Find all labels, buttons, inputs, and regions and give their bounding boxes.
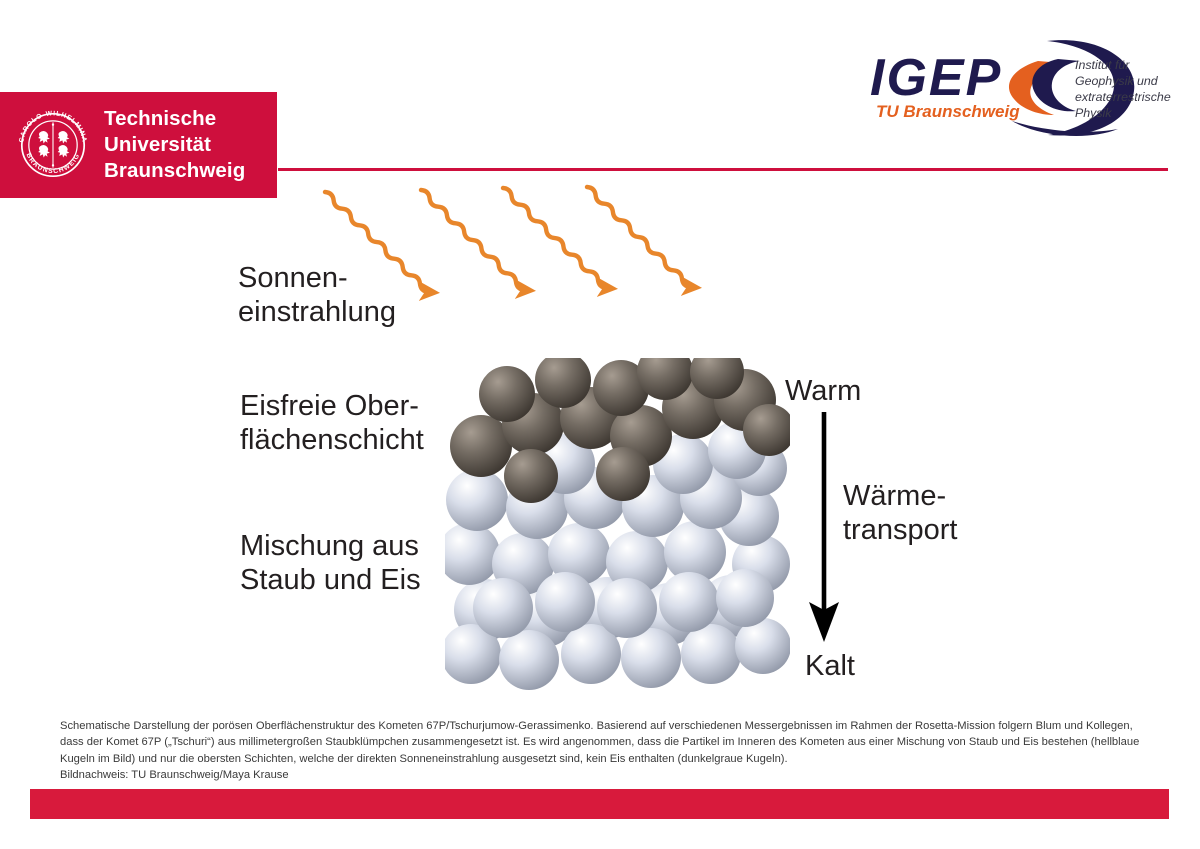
label-warm: Warm xyxy=(785,375,861,408)
caption-line-1: Schematische Darstellung der porösen Obe… xyxy=(60,718,1150,734)
igep-acronym: IGEP xyxy=(870,49,1002,107)
tu-wordmark-line-3: Braunschweig xyxy=(104,158,245,184)
figure-caption: Schematische Darstellung der porösen Obe… xyxy=(60,718,1150,784)
header-divider-rule xyxy=(278,168,1168,171)
label-icefree-surface: Eisfreie Ober- flächenschicht xyxy=(240,390,424,457)
tu-wordmark-line-1: Technische xyxy=(104,106,245,132)
igep-institute-line-3: extraterrestrische xyxy=(1075,90,1171,104)
igep-logo: IGEP TU Braunschweig Institut für Geophy… xyxy=(862,33,1182,141)
label-heat-transport: Wärme- transport xyxy=(843,480,957,547)
caption-line-2: dass der Komet 67P („Tschuri“) aus milli… xyxy=(60,734,1150,750)
footer-red-bar xyxy=(30,789,1169,819)
heat-transport-arrow-icon xyxy=(800,412,850,644)
caption-line-3: Kugeln im Bild) und nur die obersten Sch… xyxy=(60,751,1150,767)
comet-porous-structure-illustration xyxy=(445,358,790,693)
igep-institute-line-2: Geophysik und xyxy=(1075,74,1159,88)
sun-ray-2 xyxy=(419,188,526,292)
label-kalt: Kalt xyxy=(805,650,855,683)
tu-wordmark: Technische Universität Braunschweig xyxy=(104,106,245,184)
slide-canvas: CAROLO-WILHELMINA BRAUNSCHWEIG Technisch… xyxy=(0,0,1200,849)
tu-seal-icon: CAROLO-WILHELMINA BRAUNSCHWEIG xyxy=(14,106,92,184)
tu-braunschweig-logo: CAROLO-WILHELMINA BRAUNSCHWEIG Technisch… xyxy=(0,92,277,198)
label-dust-ice-mixture: Mischung aus Staub und Eis xyxy=(240,530,421,597)
image-credit: Bildnachweis: TU Braunschweig/Maya Kraus… xyxy=(60,767,1150,783)
lion-right-icon xyxy=(58,131,70,158)
sun-ray-3 xyxy=(501,186,608,290)
lion-left-icon xyxy=(38,131,50,158)
igep-institute-line-1: Institut für xyxy=(1075,58,1130,72)
igep-subtitle: TU Braunschweig xyxy=(876,102,1020,121)
igep-institute-line-4: Physik xyxy=(1075,106,1112,120)
tu-wordmark-line-2: Universität xyxy=(104,132,245,158)
label-solar-radiation: Sonnen- einstrahlung xyxy=(238,262,396,329)
sun-ray-4 xyxy=(585,185,692,289)
